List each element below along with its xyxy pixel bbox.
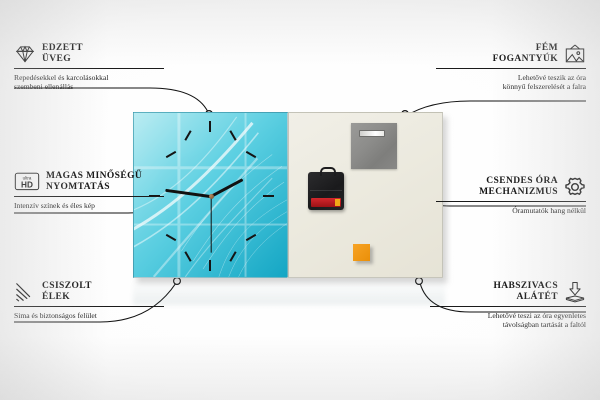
infographic-root: EDZETT ÜVEG Repedésekkel és karcolásokka… bbox=[0, 0, 600, 400]
wall-mount-frame-icon bbox=[564, 43, 586, 65]
movement-hook bbox=[320, 167, 336, 176]
feature-csiszolt-elek: CSISZOLT ÉLEK Sima és biztonságos felüle… bbox=[14, 281, 164, 320]
feature-divider bbox=[14, 196, 164, 197]
movement-seam bbox=[310, 190, 342, 191]
hour-marker bbox=[209, 260, 211, 271]
feature-title: CSISZOLT ÉLEK bbox=[42, 281, 92, 303]
connector-edzett-uveg bbox=[14, 88, 208, 112]
feature-habszivacs-alatet: HABSZIVACS ALÁTÉT Lehetővé teszi az óra … bbox=[430, 281, 586, 329]
feature-heading: FÉM FOGANTYÚK bbox=[436, 43, 586, 65]
feature-description: Sima és biztonságos felület bbox=[14, 311, 164, 320]
product-reflection bbox=[133, 279, 445, 305]
feature-divider bbox=[14, 68, 164, 69]
feature-description: Óramutatók hang nélkül bbox=[436, 206, 586, 215]
foam-pad-arrow-icon bbox=[564, 281, 586, 303]
foam-pad bbox=[353, 244, 370, 261]
feature-description: Intenzív színek és éles kép bbox=[14, 201, 164, 210]
feature-divider bbox=[436, 201, 586, 202]
hour-marker bbox=[263, 195, 274, 197]
gear-icon bbox=[564, 176, 586, 198]
hour-marker bbox=[209, 121, 211, 132]
feature-magas-minosegu-nyomtatas: ultra HD MAGAS MINŐSÉGŰ NYOMTATÁS Intenz… bbox=[14, 171, 164, 210]
second-hand bbox=[210, 196, 211, 252]
feature-divider bbox=[14, 306, 164, 307]
hands-center-cap bbox=[209, 194, 214, 199]
quartz-movement-box bbox=[308, 172, 344, 210]
battery-tip bbox=[335, 199, 340, 206]
feature-title: HABSZIVACS ALÁTÉT bbox=[493, 281, 558, 303]
clock-back-panel bbox=[288, 112, 443, 278]
polished-edges-icon bbox=[14, 281, 36, 303]
feature-heading: ultra HD MAGAS MINŐSÉGŰ NYOMTATÁS bbox=[14, 171, 164, 193]
hanger-slot bbox=[359, 130, 385, 137]
metal-hanger-plate bbox=[351, 123, 397, 169]
feature-title: EDZETT ÜVEG bbox=[42, 43, 83, 65]
feature-edzett-uveg: EDZETT ÜVEG Repedésekkel és karcolásokka… bbox=[14, 43, 164, 91]
feature-heading: HABSZIVACS ALÁTÉT bbox=[430, 281, 586, 303]
feature-csendes-ora-mechanizmus: CSENDES ÓRA MECHANIZMUS Óramutatók hang … bbox=[436, 176, 586, 215]
product-image bbox=[133, 112, 443, 278]
feature-title: MAGAS MINŐSÉGŰ NYOMTATÁS bbox=[46, 171, 142, 193]
diamond-icon bbox=[14, 43, 36, 65]
feature-fem-fogantyuk: FÉM FOGANTYÚK Lehetővé teszik az óra kön… bbox=[436, 43, 586, 91]
feature-heading: EDZETT ÜVEG bbox=[14, 43, 164, 65]
feature-heading: CSISZOLT ÉLEK bbox=[14, 281, 164, 303]
feature-title: FÉM FOGANTYÚK bbox=[493, 43, 558, 65]
feature-description: Lehetővé teszik az óra könnyű felszerelé… bbox=[436, 73, 586, 92]
feature-heading: CSENDES ÓRA MECHANIZMUS bbox=[436, 176, 586, 198]
feature-description: Repedésekkel és karcolásokkal szembeni e… bbox=[14, 73, 164, 92]
ultra-hd-icon: ultra HD bbox=[14, 171, 40, 193]
svg-text:HD: HD bbox=[21, 181, 33, 190]
feature-title: CSENDES ÓRA MECHANIZMUS bbox=[479, 176, 558, 198]
feature-divider bbox=[436, 68, 586, 69]
feature-divider bbox=[430, 306, 586, 307]
feature-description: Lehetővé teszi az óra egyenletes távolsá… bbox=[430, 311, 586, 330]
battery bbox=[311, 198, 341, 207]
